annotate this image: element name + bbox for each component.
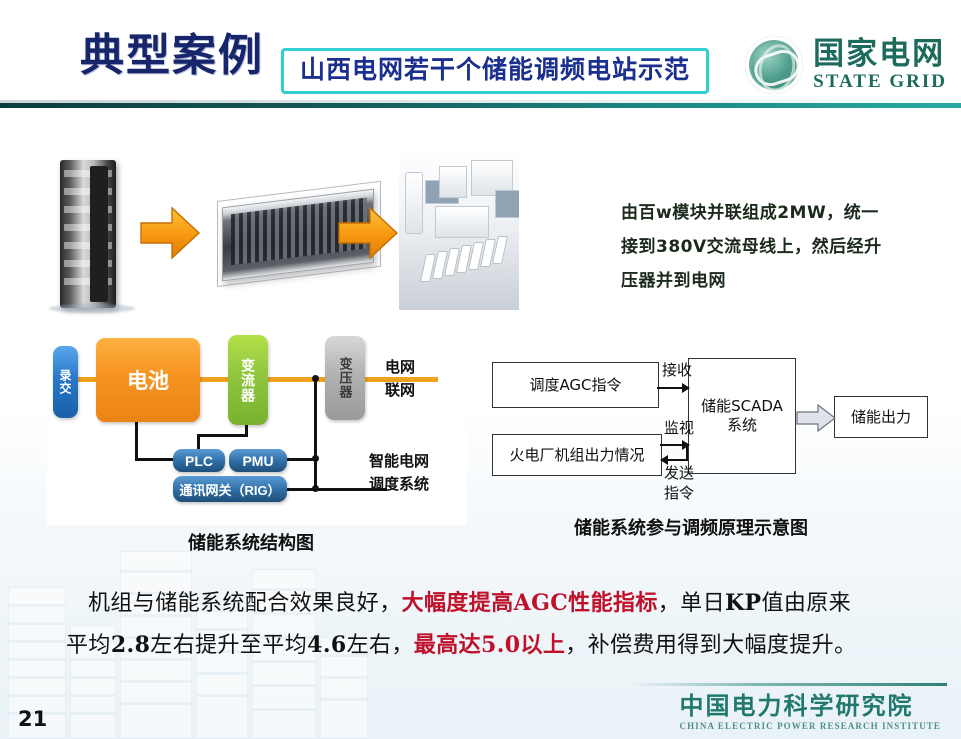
block-transformer-label: 变压器 [336,357,355,399]
edge-scada-to-plant [668,459,688,461]
block-converter: 变流器 [228,335,268,425]
summary-l1-b: ，单日 [658,591,725,616]
photo-strip [47,142,467,318]
wire-battery-plc [135,458,175,461]
footer-divider [631,683,947,686]
block-converter-label: 变流器 [238,358,258,403]
label-dispatch-line-1: 智能电网 [369,450,429,473]
node-bus-top [312,375,319,382]
frequency-regulation-diagram: 调度AGC指令 火电厂机组出力情况 储能SCADA 系统 储能出力 接收 监视 … [484,356,934,516]
subtitle-chip: 山西电网若干个储能调频电站示范 [281,48,709,94]
block-pmu: PMU [229,449,287,472]
caption-principle-diagram: 储能系统参与调频原理示意图 [574,514,808,540]
block-plc-label: PLC [185,453,213,469]
arrow-right-2-icon [337,204,399,262]
photo-note: 由百w模块并联组成2MW，统一 接到380V交流母线上，然后经升 压器并到电网 [621,196,941,298]
block-gateway-label: 通讯网关（RIG） [179,480,280,499]
power-station-render-photo [399,150,519,310]
block-battery-label: 电池 [127,365,169,395]
photo-note-line-3: 压器并到电网 [621,264,941,298]
summary-line-1: 机组与储能系统配合效果良好，大幅度提高AGC性能指标，单日KP值由原来 [88,583,888,625]
flow-box-scada-line-1: 储能SCADA [701,397,783,416]
caption-structure-diagram: 储能系统结构图 [188,529,314,555]
block-communication-gateway: 通讯网关（RIG） [173,476,287,502]
institute-name-en: CHINA ELECTRIC POWER RESEARCH INSTITUTE [680,722,941,731]
block-transformer: 变压器 [325,336,365,420]
summary-l2-highlight: 最高达5.0以上 [414,632,565,658]
flow-box-scada-line-2: 系统 [701,416,783,435]
edge-monitor-to-scada [660,444,683,446]
label-smart-dispatch: 智能电网 调度系统 [369,450,429,497]
summary-l2-b: 左右提升至平均 [150,633,307,658]
block-acquisition-label: 录交 [57,369,74,395]
institute-logo: 中国电力科学研究院 CHINA ELECTRIC POWER RESEARCH … [680,694,941,731]
summary-l2-d: ，补偿费用得到大幅度提升。 [565,633,856,658]
wire-vertical-bus [314,378,317,490]
summary-line-2: 平均2.8左右提升至平均4.6左右，最高达5.0以上，补偿费用得到大幅度提升。 [66,625,888,667]
rack-shadow [49,304,135,313]
summary-paragraph: 机组与储能系统配合效果良好，大幅度提高AGC性能指标，单日KP值由原来 平均2.… [88,583,888,666]
summary-l2-c: 左右， [347,633,414,658]
slide-header: 典型案例 山西电网若干个储能调频电站示范 国家电网 STATE GRID [0,0,961,106]
wire-battery-down [135,422,138,460]
label-grid-connection: 电网 联网 [385,356,415,403]
state-grid-globe-icon [745,36,803,94]
block-pmu-label: PMU [242,453,273,469]
summary-l1-highlight: 大幅度提高AGC性能指标 [402,590,658,616]
arrow-scada-to-output-icon [796,404,836,437]
label-grid-line-1: 电网 [385,356,415,379]
flow-box-storage-output: 储能出力 [834,396,928,438]
storage-structure-diagram: 录交 电池 变流器 变压器 PLC PMU 通讯网关（RIG） [47,330,467,525]
edge-label-monitor: 监视 [664,419,694,437]
wire-converter-down [245,425,248,437]
arrow-right-1-icon [139,204,201,262]
flow-box-thermal-plant: 火电厂机组出力情况 [492,434,662,476]
label-grid-line-2: 联网 [385,379,415,402]
edge-label-receive: 接收 [662,361,692,379]
photo-note-line-2: 接到380V交流母线上，然后经升 [621,230,941,264]
page-title: 典型案例 [80,34,264,78]
edge-label-send-1: 发送 [664,464,694,482]
header-divider [0,103,961,108]
summary-l2-value-2: 4.6 [307,632,346,658]
flow-box-agc-command: 调度AGC指令 [492,362,659,408]
photo-note-line-1: 由百w模块并联组成2MW，统一 [621,196,941,230]
edge-scada-send-vertical [686,444,688,461]
institute-name-cn: 中国电力科学研究院 [680,694,941,718]
label-dispatch-line-2: 调度系统 [369,473,429,496]
block-acquisition: 录交 [53,346,78,418]
summary-l1-a: 机组与储能系统配合效果良好， [88,591,402,616]
arrowhead-agc-to-scada-icon [682,383,690,393]
summary-l1-kp: KP [725,590,761,616]
page-number: 21 [18,707,47,731]
flow-box-scada: 储能SCADA 系统 [688,358,796,474]
state-grid-name-en: STATE GRID [813,72,947,91]
block-plc: PLC [173,449,225,472]
summary-l2-a: 平均 [66,633,111,658]
summary-l2-value-1: 2.8 [111,632,150,658]
state-grid-logo: 国家电网 STATE GRID [745,36,947,94]
node-bus-rig [312,485,319,492]
slide-canvas: 典型案例 山西电网若干个储能调频电站示范 国家电网 STATE GRID [0,0,961,739]
block-battery: 电池 [96,338,200,422]
battery-rack-photo [60,160,116,308]
edge-label-send-2: 指令 [664,484,694,502]
node-bus-pmu [312,455,319,462]
state-grid-name-cn: 国家电网 [813,39,947,70]
edge-agc-to-scada [657,387,683,389]
wire-plc-converter [197,434,247,437]
summary-l1-c: 值由原来 [761,591,851,616]
